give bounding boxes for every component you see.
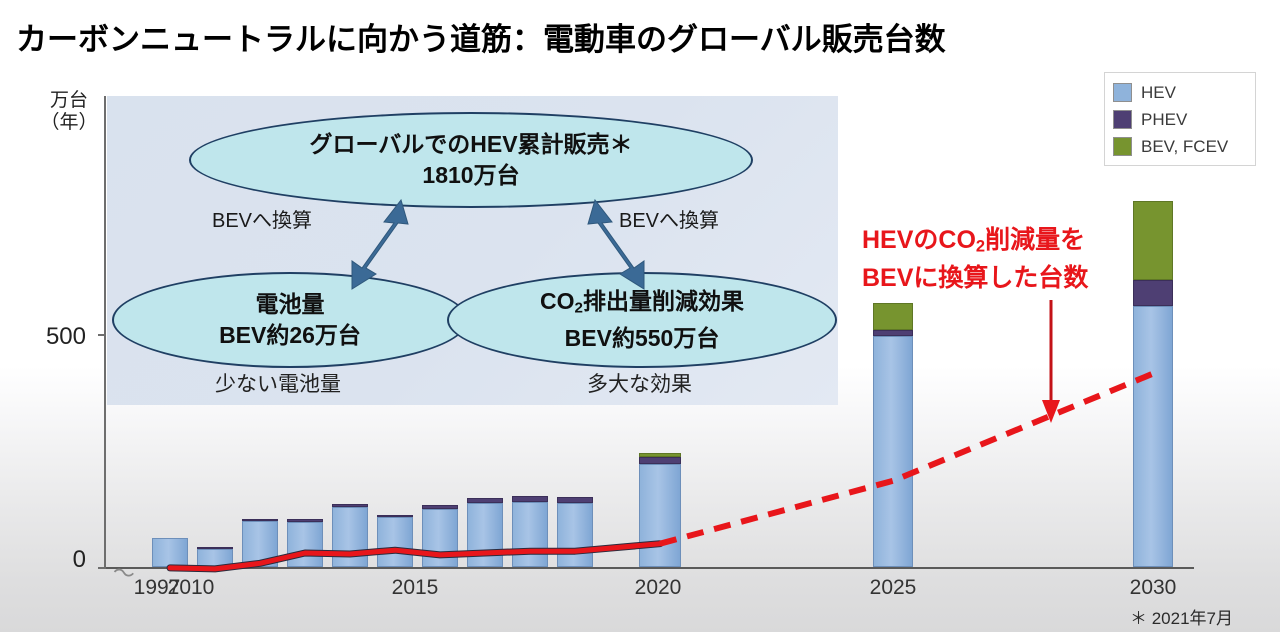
diagram-panel: グローバルでのHEV累計販売＊ 1810万台 電池量 BEV約26万台 CO2排… [107, 96, 838, 405]
y-tick-mark-500 [98, 334, 106, 336]
chart-canvas: カーボンニュートラルに向かう道筋：電動車のグローバル販売台数 万台 （年） 50… [0, 0, 1280, 632]
bar-seg-bev-fcev-2025 [873, 303, 913, 330]
y-axis-unit-line1: 万台 [36, 90, 102, 112]
page-title: カーボンニュートラルに向かう道筋：電動車のグローバル販売台数 [16, 14, 946, 59]
x-tick-2020: 2020 [613, 576, 703, 600]
y-axis-unit: 万台 （年） [36, 90, 102, 134]
bar-seg-phev-2018 [512, 496, 548, 502]
bar-seg-phev-2013 [287, 519, 323, 522]
bar-2030[interactable] [1133, 201, 1173, 567]
bar-seg-hev-2010 [152, 538, 188, 567]
bar-seg-phev-2017 [467, 498, 503, 503]
bar-2011[interactable] [197, 547, 233, 567]
x-tick-2030: 2030 [1108, 576, 1198, 600]
bar-2025[interactable] [873, 303, 913, 567]
legend-label-phev: PHEV [1141, 110, 1187, 130]
red-annotation-line1-pre: HEVのCO [862, 226, 976, 254]
bar-seg-hev-2015 [377, 517, 413, 567]
legend-item-phev[interactable]: PHEV [1113, 106, 1247, 133]
bar-2017[interactable] [467, 498, 503, 567]
bar-seg-phev-2014 [332, 504, 368, 507]
bar-2013[interactable] [287, 519, 323, 567]
bar-2014[interactable] [332, 504, 368, 567]
bar-2018[interactable] [512, 496, 548, 567]
red-annotation: HEVのCO2削減量を BEVに換算した台数 [862, 225, 1130, 294]
x-axis-line [104, 567, 1194, 569]
bar-seg-phev-2025 [873, 330, 913, 337]
bar-2012[interactable] [242, 519, 278, 567]
red-annotation-line2: BEVに換算した台数 [862, 263, 1130, 294]
y-axis-unit-line2: （年） [36, 112, 102, 134]
y-tick-mark-0 [98, 567, 106, 569]
bar-seg-hev-2014 [332, 507, 368, 567]
y-tick-0: 0 [22, 546, 86, 574]
bar-seg-phev-2030 [1133, 280, 1173, 306]
bar-seg-hev-2025 [873, 336, 913, 567]
bar-seg-hev-2012 [242, 521, 278, 567]
footnote: ＊ 2021年7月 [1130, 604, 1233, 629]
bar-seg-bev-fcev-2020 [639, 453, 681, 457]
bar-seg-hev-2030 [1133, 306, 1173, 567]
legend-swatch-phev [1113, 110, 1132, 129]
bar-seg-phev-2019 [557, 497, 593, 503]
legend-label-hev: HEV [1141, 83, 1176, 103]
legend-item-bev-fcev[interactable]: BEV, FCEV [1113, 133, 1247, 160]
bar-seg-hev-2018 [512, 502, 548, 567]
bar-seg-phev-2015 [377, 515, 413, 517]
legend-swatch-hev [1113, 83, 1132, 102]
bar-seg-phev-2011 [197, 547, 233, 549]
red-annotation-line1: HEVのCO2削減量を [862, 225, 1130, 263]
bar-seg-phev-2012 [242, 519, 278, 522]
legend-label-bev-fcev: BEV, FCEV [1141, 137, 1228, 157]
y-tick-500: 500 [22, 323, 86, 351]
legend-item-hev[interactable]: HEV [1113, 79, 1247, 106]
bar-seg-bev-fcev-2030 [1133, 201, 1173, 280]
bar-seg-phev-2020 [639, 457, 681, 464]
bar-seg-hev-2020 [639, 464, 681, 567]
bar-2015[interactable] [377, 515, 413, 567]
bar-2020[interactable] [639, 453, 681, 567]
diagram-arrows [107, 96, 838, 405]
y-axis-line [104, 96, 106, 568]
bar-seg-hev-2013 [287, 522, 323, 567]
bar-2019[interactable] [557, 497, 593, 567]
x-tick-2025: 2025 [848, 576, 938, 600]
legend: HEV PHEV BEV, FCEV [1104, 72, 1256, 166]
bar-seg-hev-2017 [467, 503, 503, 567]
bar-seg-phev-2016 [422, 505, 458, 509]
bar-seg-hev-2011 [197, 549, 233, 567]
annotation-arrow-icon [1042, 300, 1060, 423]
red-annotation-line1-post: 削減量を [985, 226, 1085, 254]
bar-2010[interactable] [152, 538, 188, 567]
bar-seg-hev-2016 [422, 509, 458, 567]
bar-2016[interactable] [422, 505, 458, 567]
bar-seg-hev-2019 [557, 503, 593, 567]
red-annotation-subscript: 2 [976, 238, 985, 256]
x-tick-2010: 2010 [146, 576, 236, 600]
legend-swatch-bev-fcev [1113, 137, 1132, 156]
x-tick-2015: 2015 [370, 576, 460, 600]
